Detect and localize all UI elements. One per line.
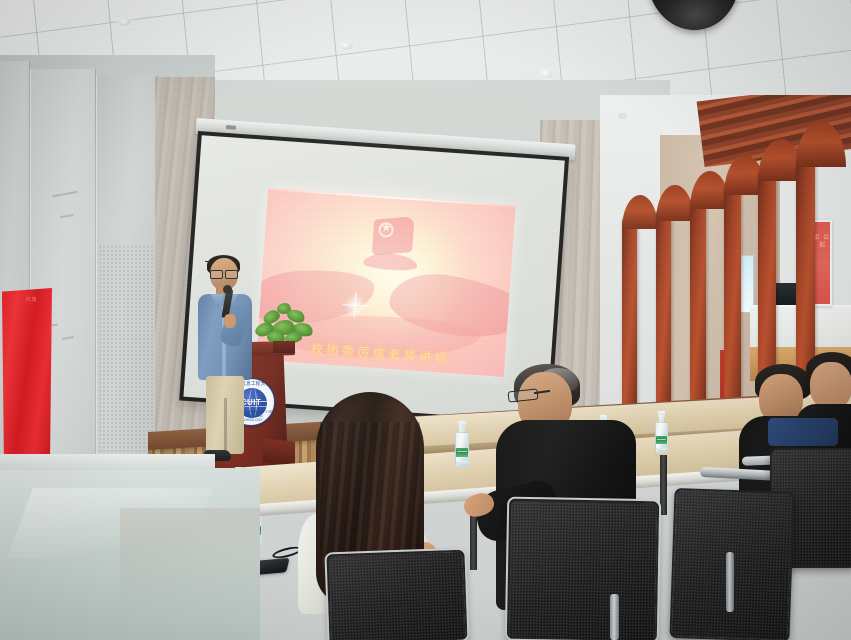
slide-sparkle-icon — [341, 292, 369, 320]
bottle-label — [456, 448, 468, 457]
eyeglasses-icon — [210, 270, 238, 277]
trouser-seam — [224, 398, 227, 454]
speaker-hand — [224, 314, 236, 328]
desktop-monitor-icon — [775, 283, 797, 305]
red-flag-banner: 红旗 — [2, 288, 52, 468]
bottle-body — [455, 432, 469, 467]
chair-frame — [324, 548, 469, 640]
eyeglasses-bridge — [205, 261, 211, 262]
ceiling-downlight — [540, 70, 553, 78]
polished-floor — [0, 468, 260, 640]
bottle-base — [656, 448, 667, 452]
bottle-label — [656, 436, 667, 444]
lecture-hall-photo: 红旗 通知 公告 栏 — [0, 0, 851, 640]
podium-side-shelf — [263, 438, 295, 465]
water-bottle — [655, 414, 668, 464]
plant-pot — [273, 341, 295, 353]
slide-top-highlight — [268, 188, 516, 207]
chair-frame — [505, 497, 661, 640]
screen-housing-knob — [226, 125, 236, 130]
speaker-at-podium — [194, 258, 256, 470]
chair-support-post — [726, 552, 734, 612]
cctv-camera-icon — [618, 113, 627, 119]
chair-support-post — [610, 594, 619, 640]
head — [810, 362, 851, 410]
water-bottle — [455, 424, 469, 480]
emblem-banner — [363, 252, 418, 272]
emblem-flag — [372, 216, 415, 255]
blue-bag — [768, 418, 838, 446]
ceiling-downlight — [340, 42, 353, 50]
flag-text: 红旗 — [26, 296, 52, 304]
bottle-body — [655, 422, 668, 453]
communist-youth-league-emblem-icon — [356, 212, 425, 288]
ceiling-downlight — [118, 18, 131, 26]
microphone-head — [223, 285, 232, 294]
bottle-base — [456, 461, 468, 466]
stage-reflection — [120, 508, 260, 618]
floor-baseboard — [0, 454, 215, 470]
potted-plant — [253, 303, 315, 353]
